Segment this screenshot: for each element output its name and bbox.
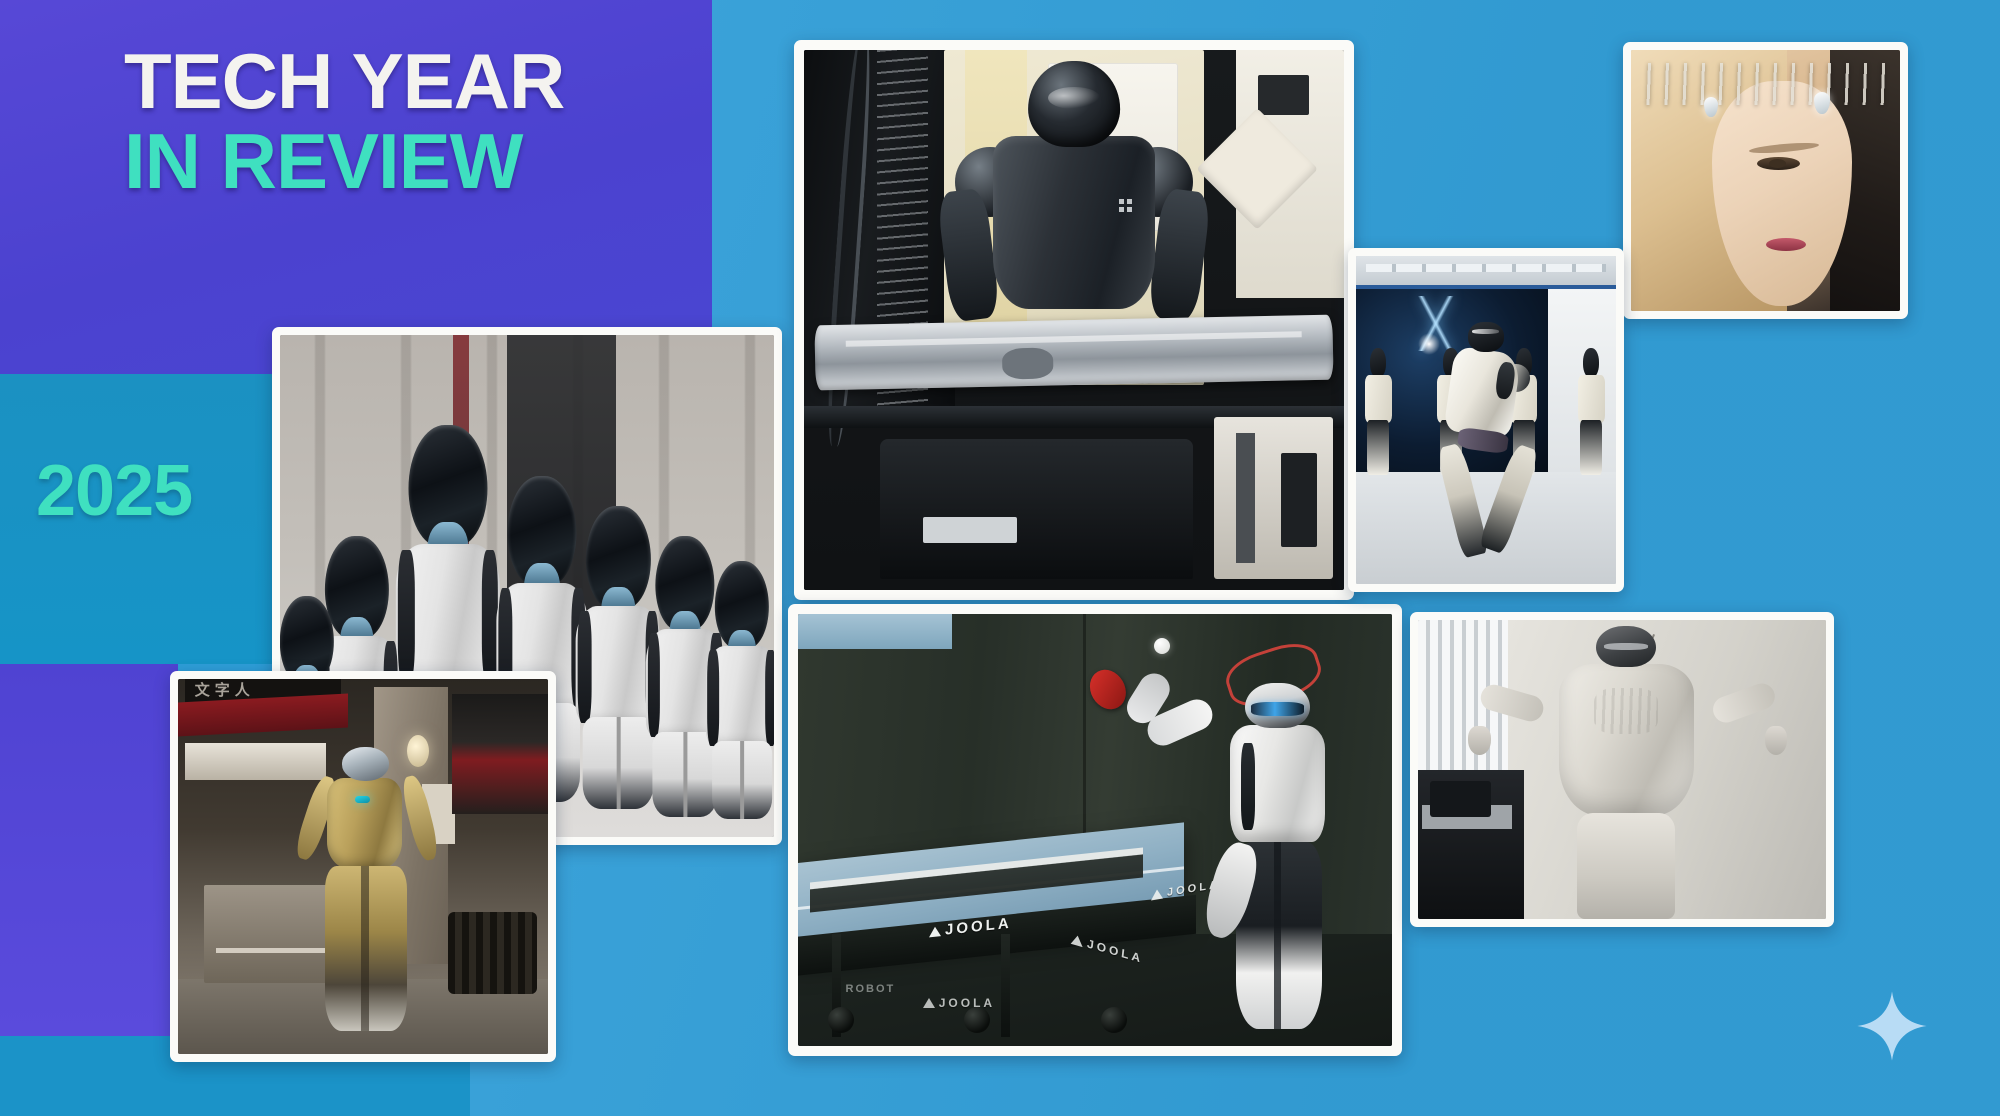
sign-glyphs: 文字人 [195,679,255,700]
ai-portrait-photo [1623,42,1908,319]
car-body-beam [814,315,1334,391]
robot-torso [327,778,402,869]
robot-legs [325,866,407,1031]
running-robot-photo [1348,248,1624,592]
background-block-purple-bottom [0,664,178,1036]
running-robot-figure [1444,322,1522,558]
pale-android-photo [1410,612,1834,927]
headline-line-2: IN REVIEW [124,126,684,198]
stacked-tires [448,912,537,995]
lab-equipment [1430,781,1491,817]
ai-portrait-image [1631,50,1900,311]
table-tennis-robot [1202,683,1356,1029]
android-figure [1532,626,1720,919]
year-label: 2025 [36,455,192,527]
robot-head [1028,61,1120,147]
robot-head [1468,322,1504,353]
train-car [452,694,548,814]
sparkle-icon [1856,990,1928,1062]
running-robot-image [1356,256,1616,584]
headline-line-1: TECH YEAR [124,46,684,118]
gold-robot-image: 文字人 [178,679,548,1054]
background-robot [1574,348,1608,473]
table-tennis-robot-photo: JOOLA JOOLA JOOLA JOOLA ROBOT [788,604,1402,1056]
factory-robot-photo [794,40,1354,600]
gold-street-robot-photo: 文字人 [170,671,556,1062]
robot-torso [993,136,1155,309]
robot-figure [655,536,714,787]
factory-equipment [1214,417,1333,579]
joola-triangle-icon [1151,889,1163,901]
ceiling-band [798,614,952,649]
android-head [1596,626,1656,667]
shop-shelf [185,743,326,781]
gold-robot-figure [311,747,422,1032]
android-hand-left [1468,726,1491,755]
poster-canvas: TECH YEAR IN REVIEW 2025 [0,0,2000,1116]
table-tennis-image: JOOLA JOOLA JOOLA JOOLA ROBOT [798,614,1392,1046]
factory-robot-image [804,50,1344,590]
pale-android-image [1418,620,1826,919]
android-legs [1577,813,1675,918]
robot-visor [1251,702,1304,716]
background-robot [1361,348,1395,473]
lips [1766,238,1806,251]
gem-pendant [1704,97,1718,117]
robot-head [342,747,389,781]
chest-emblem-icon [355,796,370,803]
robot-body [1230,725,1326,843]
robot-figure [715,561,769,792]
robot-torso [1443,346,1521,440]
android-torso [1559,664,1694,816]
robot-chest-logo [1119,199,1132,212]
table-wheel [1101,1007,1127,1033]
table-wheel [828,1007,854,1033]
jewelled-circlet [1642,63,1889,105]
robot-base-unit [880,439,1193,579]
robot-figure [586,506,650,777]
poster-headline: TECH YEAR IN REVIEW [124,46,684,198]
ceiling-beam [1356,256,1616,289]
